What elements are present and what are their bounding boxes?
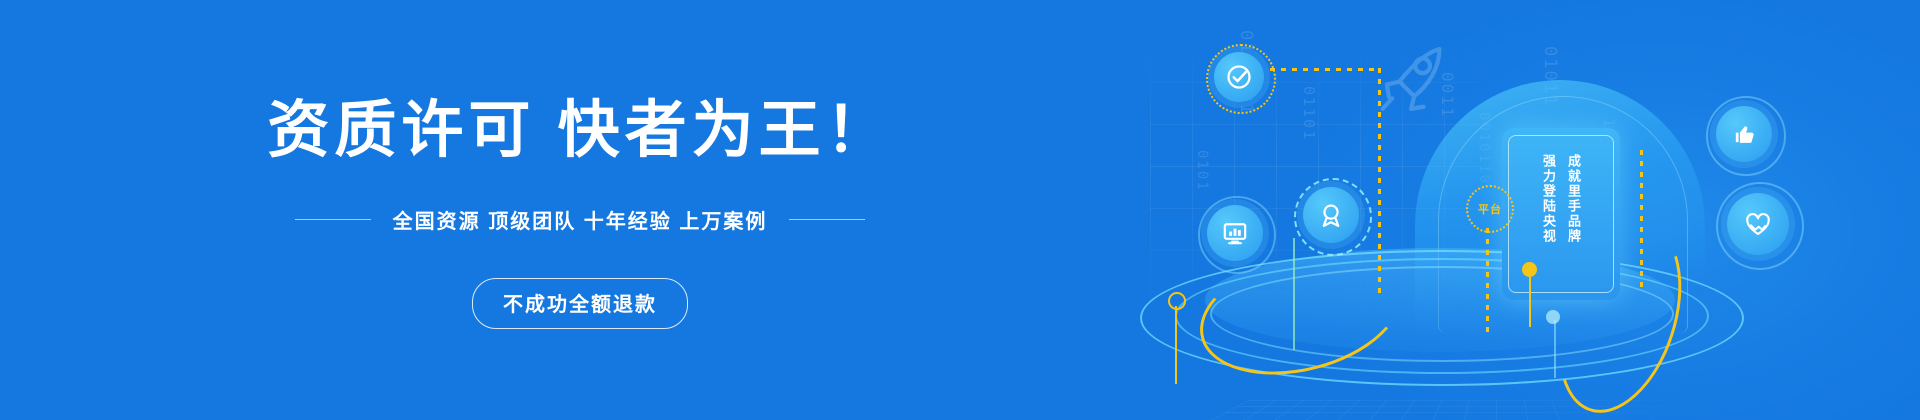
connector-node-blue: [1546, 310, 1560, 324]
handshake-heart-icon[interactable]: [1727, 193, 1789, 255]
subtitle-row: 全国资源 顶级团队 十年经验 上万案例: [0, 205, 1160, 234]
refund-guarantee-button[interactable]: 不成功全额退款: [472, 278, 688, 329]
cta-row: 不成功全额退款: [0, 278, 1160, 329]
connector-node-hollow: [1168, 292, 1186, 310]
connector-dotted-right: [1640, 150, 1643, 290]
tablet-slogan-left: 强力登陆央视: [1539, 154, 1558, 290]
divider-right: [789, 219, 865, 220]
subtitle: 全国资源 顶级团队 十年经验 上万案例: [393, 205, 768, 234]
connector-dotted-checkmark: [1378, 68, 1381, 298]
connector-stem-award: [1293, 238, 1295, 350]
thumbs-up-icon[interactable]: [1716, 106, 1772, 162]
monitor-chart-icon[interactable]: [1207, 205, 1263, 261]
connector-stem-hollow-dot: [1175, 306, 1177, 384]
connector-dotted-platform-badge: [1486, 228, 1489, 336]
tablet-slogan-right: 成就里手品牌: [1564, 154, 1583, 290]
award-ribbon-icon[interactable]: [1303, 187, 1359, 243]
platform-badge: 平台: [1466, 185, 1514, 233]
connector-node-solid: [1522, 262, 1537, 277]
connector-dotted-checkmark-horizontal: [1270, 68, 1380, 71]
headline: 资质许可 快者为王！: [0, 100, 1160, 162]
divider-left: [295, 219, 371, 220]
tablet-slogan: 成就里手品牌 强力登陆央视: [1502, 154, 1620, 290]
rocket-icon: [1355, 28, 1465, 133]
connector-stem-right: [1554, 320, 1556, 378]
connector-stem-solid-dot: [1529, 275, 1531, 327]
check-circle-icon[interactable]: [1214, 52, 1264, 102]
illustration: 成就里手品牌 强力登陆央视: [1150, 0, 1920, 420]
promo-banner: 0110001 01101 0011 0010110 01011 110010 …: [0, 0, 1920, 420]
copy-block: 资质许可 快者为王！ 全国资源 顶级团队 十年经验 上万案例 不成功全额退款: [0, 0, 1160, 420]
tablet-device: 成就里手品牌 强力登陆央视: [1502, 128, 1620, 300]
